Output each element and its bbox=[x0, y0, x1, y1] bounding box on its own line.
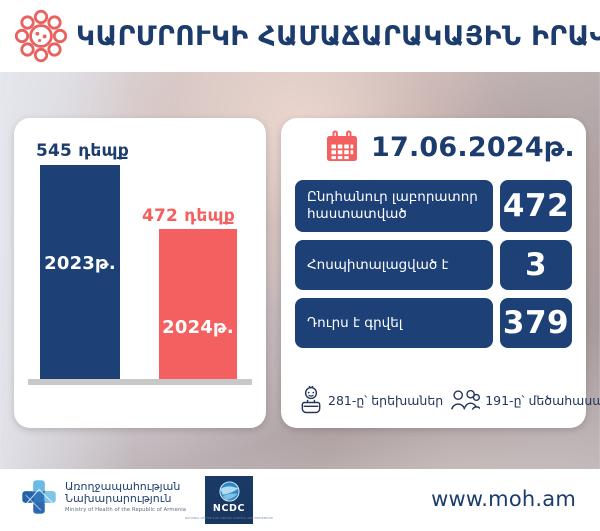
bar-category-label-2023: 2023թ. bbox=[40, 253, 120, 274]
stat-row-hospitalized: Հոսպիտալացված է 3 bbox=[295, 240, 572, 290]
stat-value-discharged: 379 bbox=[500, 298, 572, 348]
header-bar: ԿԱՐՄՐՈՒԿԻ ՀԱՄԱՃԱՐԱԿԱՅԻՆ ԻՐԱՎԻՃԱԿ bbox=[0, 0, 600, 72]
stat-row-confirmed: Ընդհանուր լաբորատոր հաստատված 472 bbox=[295, 180, 572, 232]
demographic-children: 281-ը՝ երեխաներ bbox=[299, 386, 443, 414]
demographic-adults: 191-ը՝ մեծահասակ bbox=[450, 388, 600, 412]
stat-label-discharged: Դուրս է գրվել bbox=[295, 298, 493, 348]
bar-value-label-2023: 545 դեպք bbox=[36, 141, 129, 161]
bar-chart: 545 դեպք 2023թ. 472 դեպք 2024թ. bbox=[14, 118, 266, 428]
ncdc-subtitle: NATIONAL CENTER FOR DISEASE CONTROL AND … bbox=[185, 517, 272, 520]
chart-baseline bbox=[28, 379, 252, 385]
bar-2023: 2023թ. bbox=[40, 165, 120, 380]
ncdc-globe-icon bbox=[219, 481, 240, 502]
report-date: 17.06.2024թ. bbox=[371, 132, 575, 163]
moh-cross-logo-icon bbox=[20, 478, 58, 516]
people-icon bbox=[450, 388, 480, 412]
stat-value-hospitalized: 3 bbox=[500, 240, 572, 290]
stat-rows: Ընդհանուր լաբորատոր հաստատված 472 Հոսպիտ… bbox=[295, 180, 572, 356]
measles-virus-icon bbox=[12, 7, 70, 65]
page-title: ԿԱՐՄՐՈՒԿԻ ՀԱՄԱՃԱՐԱԿԱՅԻՆ ԻՐԱՎԻՃԱԿ bbox=[76, 23, 600, 50]
ncdc-logo: NCDC NATIONAL CENTER FOR DISEASE CONTROL… bbox=[205, 476, 253, 524]
ncdc-label: NCDC bbox=[213, 503, 245, 514]
bar-category-label-2024: 2024թ. bbox=[159, 317, 237, 338]
stat-label-hospitalized: Հոսպիտալացված է bbox=[295, 240, 493, 290]
demographics-row: 281-ը՝ երեխաներ bbox=[299, 386, 600, 414]
bar-value-label-2024: 472 դեպք bbox=[142, 206, 235, 226]
bar-2024: 2024թ. bbox=[159, 229, 237, 380]
website-url[interactable]: www.moh.am bbox=[431, 487, 576, 511]
stat-value-confirmed: 472 bbox=[500, 180, 572, 232]
demographic-children-text: 281-ը՝ երեխաներ bbox=[328, 393, 443, 408]
chart-card: 545 դեպք 2023թ. 472 դեպք 2024թ. bbox=[14, 118, 266, 428]
calendar-icon bbox=[325, 130, 359, 164]
footer-bar: Առողջապահության Նախարարություն Ministry … bbox=[0, 469, 600, 531]
stats-card: 17.06.2024թ. Ընդհանուր լաբորատոր հաստատվ… bbox=[281, 118, 586, 428]
moh-title-english: Ministry of Health of the Republic of Ar… bbox=[65, 506, 186, 514]
infographic-page: ԿԱՐՄՐՈՒԿԻ ՀԱՄԱՃԱՐԱԿԱՅԻՆ ԻՐԱՎԻՃԱԿ 545 դեպ… bbox=[0, 0, 600, 531]
demographic-adults-text: 191-ը՝ մեծահասակ bbox=[485, 393, 600, 408]
date-row: 17.06.2024թ. bbox=[325, 130, 575, 164]
moh-logo: Առողջապահության Նախարարություն Ministry … bbox=[20, 478, 186, 516]
stat-label-confirmed: Ընդհանուր լաբորատոր հաստատված bbox=[295, 180, 493, 232]
stat-row-discharged: Դուրս է գրվել 379 bbox=[295, 298, 572, 348]
moh-title-line2: Նախարարություն bbox=[65, 493, 186, 506]
moh-text-block: Առողջապահության Նախարարություն Ministry … bbox=[65, 481, 186, 514]
baby-icon bbox=[299, 386, 323, 414]
